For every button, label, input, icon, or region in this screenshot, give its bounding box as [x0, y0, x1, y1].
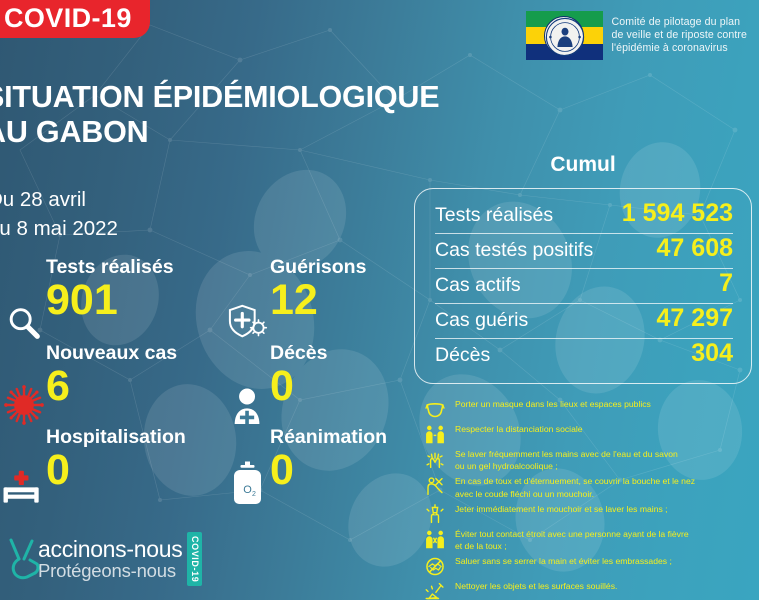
cumul-label: Cas testés positifs [435, 239, 593, 262]
svg-text:2: 2 [252, 491, 256, 498]
prevention-line-2: et de la toux ; [455, 540, 689, 552]
cumul-value: 7 [719, 269, 733, 298]
cumul-label: Cas guéris [435, 309, 528, 332]
stat-label: Nouveaux cas [46, 344, 177, 364]
coronavirus-icon [2, 378, 46, 426]
title-line-2: AU GABON [0, 115, 439, 150]
stat-body: Nouveaux cas 6 [46, 344, 177, 408]
cumul-panel: Tests réalisés 1 594 523 Cas testés posi… [414, 188, 752, 384]
clean-surfaces-icon [424, 581, 446, 600]
period-stats-grid: Tests réalisés 901 G [0, 258, 400, 508]
magnifier-icon [2, 294, 46, 342]
date-from: Du 28 avril [0, 185, 118, 214]
vaccination-covid-tag: COVID-19 [187, 532, 202, 586]
hospital-bed-icon [2, 458, 46, 506]
stat-hospitalisation: Hospitalisation 0 [0, 428, 232, 508]
gabon-flag-seal-icon [526, 11, 603, 60]
prevention-text: Se laver fréquemment les mains avec de l… [455, 448, 678, 472]
infographic-poster: COVID-19 [0, 0, 759, 600]
prevention-line-1: Éviter tout contact étroit avec une pers… [455, 528, 689, 540]
committee-logo: Comité de pilotage du plan de veille et … [526, 11, 748, 60]
stat-deces: Décès 0 [232, 344, 400, 428]
vaccination-slogan: accinons-nous Protégeons-nous [38, 538, 182, 581]
prevention-item: Nettoyer les objets et les surfaces soui… [424, 580, 754, 600]
social-distance-icon [424, 424, 446, 445]
reporting-period: Du 28 avril au 8 mai 2022 [0, 185, 118, 243]
stat-value: 0 [270, 365, 327, 409]
cumul-value: 47 297 [657, 304, 733, 333]
committee-name: Comité de pilotage du plan de veille et … [612, 16, 748, 55]
committee-line-2: de veille et de riposte contre [612, 29, 748, 42]
prevention-item: Respecter la distanciation sociale [424, 423, 754, 445]
cumul-value: 1 594 523 [622, 199, 733, 228]
prevention-text: Éviter tout contact étroit avec une pers… [455, 528, 689, 552]
cumul-value: 47 608 [657, 234, 733, 263]
stat-body: Décès 0 [270, 344, 327, 408]
stat-tests-realises: Tests réalisés 901 [0, 258, 232, 344]
cumul-row: Cas actifs 7 [435, 269, 733, 304]
oxygen-tank-icon: O 2 [226, 458, 270, 506]
stat-label: Réanimation [270, 428, 387, 448]
prevention-item: Éviter tout contact étroit avec une pers… [424, 528, 754, 552]
prevention-text: Jeter immédiatement le mouchoir et se la… [455, 503, 668, 515]
cumul-row: Décès 304 [435, 339, 733, 374]
prevention-item: Saluer sans se serrer la main et éviter … [424, 555, 754, 577]
cumul-label: Tests réalisés [435, 204, 553, 227]
stat-body: Hospitalisation 0 [46, 428, 186, 492]
stat-body: Réanimation 0 [270, 428, 387, 492]
cough-elbow-icon [424, 476, 446, 497]
cumul-value: 304 [691, 339, 733, 368]
stat-value: 0 [46, 449, 186, 493]
committee-line-1: Comité de pilotage du plan [612, 16, 748, 29]
person-cross-icon [226, 378, 270, 426]
prevention-text: Porter un masque dans les lieux et espac… [455, 398, 651, 410]
vaccination-line-2: Protégeons-nous [38, 561, 182, 580]
date-to: au 8 mai 2022 [0, 214, 118, 243]
stat-label: Hospitalisation [46, 428, 186, 448]
prevention-line-2: ou un gel hydroalcoolique ; [455, 460, 678, 472]
no-handshake-icon [424, 556, 446, 577]
cumul-row: Cas guéris 47 297 [435, 304, 733, 339]
prevention-line-2: avec le coude fléchi ou un mouchoir. [455, 488, 695, 500]
stat-reanimation: O 2 Réanimation 0 [232, 428, 400, 508]
stat-value: 12 [270, 279, 366, 323]
prevention-item: En cas de toux et d'éternuement, se couv… [424, 475, 754, 499]
discard-tissue-icon [424, 504, 446, 525]
prevention-text: En cas de toux et d'éternuement, se couv… [455, 475, 695, 499]
stat-label: Guérisons [270, 258, 366, 278]
prevention-text: Nettoyer les objets et les surfaces soui… [455, 580, 617, 592]
wash-hands-icon [424, 449, 446, 470]
committee-line-3: l'épidémie à coronavirus [612, 42, 748, 55]
page-title: SITUATION ÉPIDÉMIOLOGIQUE AU GABON [0, 80, 439, 151]
title-line-1: SITUATION ÉPIDÉMIOLOGIQUE [0, 80, 439, 115]
avoid-contact-icon [424, 529, 446, 550]
prevention-line-1: Nettoyer les objets et les surfaces soui… [455, 580, 617, 592]
cumul-label: Décès [435, 344, 490, 367]
cumul-heading: Cumul [418, 153, 748, 177]
prevention-line-1: Jeter immédiatement le mouchoir et se la… [455, 503, 668, 515]
prevention-line-1: Saluer sans se serrer la main et éviter … [455, 555, 672, 567]
stat-body: Tests réalisés 901 [46, 258, 174, 322]
prevention-line-1: Porter un masque dans les lieux et espac… [455, 398, 651, 410]
stat-nouveaux-cas: Nouveaux cas 6 [0, 344, 232, 428]
victory-hand-v-icon [6, 536, 42, 582]
prevention-item: Se laver fréquemment les mains avec de l… [424, 448, 754, 472]
covid19-badge: COVID-19 [0, 0, 150, 38]
stat-label: Tests réalisés [46, 258, 174, 278]
republic-seal-icon [544, 16, 584, 56]
prevention-item: Jeter immédiatement le mouchoir et se la… [424, 503, 754, 525]
stat-label: Décès [270, 344, 327, 364]
cumul-row: Cas testés positifs 47 608 [435, 234, 733, 269]
vaccination-logo: accinons-nous Protégeons-nous COVID-19 [6, 532, 202, 586]
cumul-label: Cas actifs [435, 274, 521, 297]
face-mask-icon [424, 399, 446, 420]
stat-value: 0 [270, 449, 387, 493]
stat-body: Guérisons 12 [270, 258, 366, 322]
prevention-guidelines: Porter un masque dans les lieux et espac… [424, 398, 754, 600]
stat-value: 6 [46, 365, 177, 409]
prevention-line-1: Respecter la distanciation sociale [455, 423, 583, 435]
prevention-line-1: En cas de toux et d'éternuement, se couv… [455, 475, 695, 487]
prevention-item: Porter un masque dans les lieux et espac… [424, 398, 754, 420]
prevention-line-1: Se laver fréquemment les mains avec de l… [455, 448, 678, 460]
prevention-text: Respecter la distanciation sociale [455, 423, 583, 435]
vaccination-line-1: accinons-nous [38, 538, 182, 562]
prevention-text: Saluer sans se serrer la main et éviter … [455, 555, 672, 567]
svg-text:O: O [243, 484, 252, 496]
stat-value: 901 [46, 279, 174, 323]
stat-guerisons: Guérisons 12 [232, 258, 400, 344]
cumul-row: Tests réalisés 1 594 523 [435, 199, 733, 234]
shield-cross-virus-icon [226, 294, 270, 342]
